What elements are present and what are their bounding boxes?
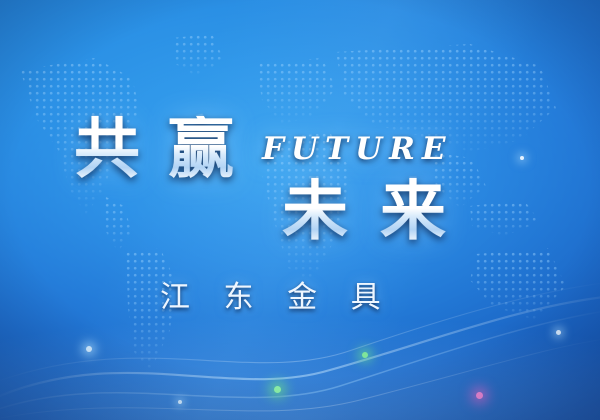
headline-char-wei: 未 <box>282 178 350 244</box>
headline-char-gong: 共 <box>74 116 142 182</box>
headline-content: 共 赢 FUTURE 未 来 江 东 金 具 <box>0 0 600 420</box>
headline-char-lai: 来 <box>380 178 448 244</box>
company-name-subtitle: 江 东 金 具 <box>160 272 393 316</box>
headline-char-ying: 赢 <box>168 116 236 182</box>
promo-banner: 共 赢 FUTURE 未 来 江 东 金 具 <box>0 0 600 420</box>
headline-future-text: FUTURE <box>262 131 453 167</box>
headline-row-2: 未 来 <box>282 178 448 244</box>
